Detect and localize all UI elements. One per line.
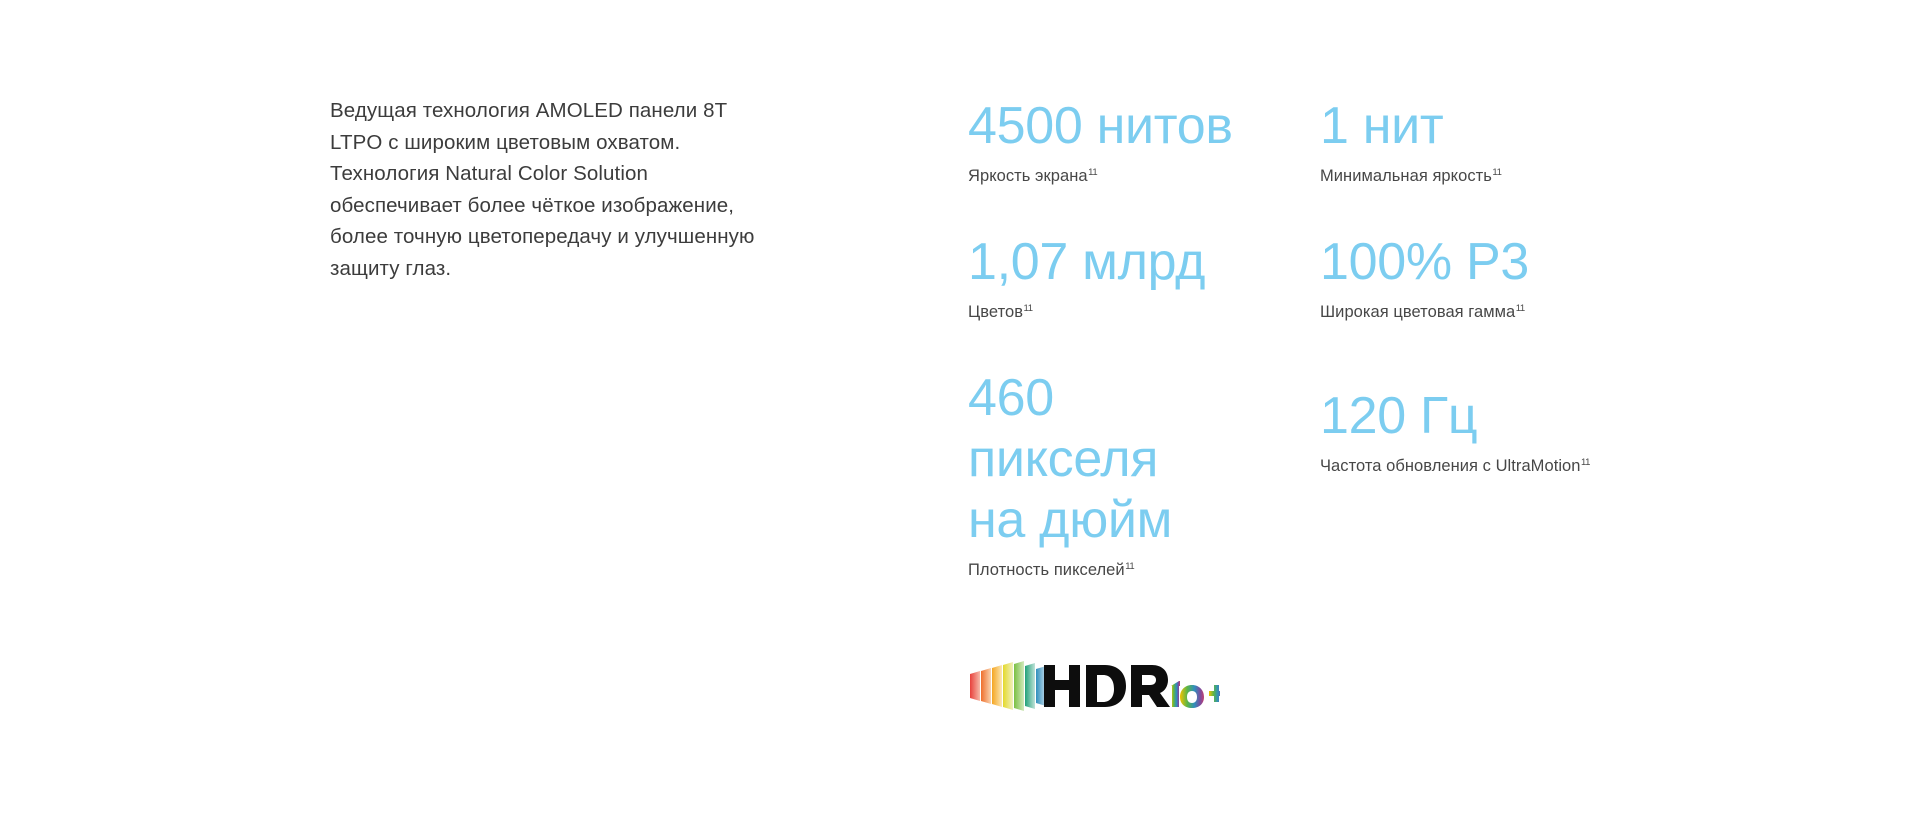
description-paragraph: Ведущая технология AMOLED панели 8T LTPO… [330, 95, 820, 284]
stat-color-gamut: 100% P3 Широкая цветовая гамма11 [1320, 232, 1668, 323]
hdr10-plus-logo [968, 660, 1220, 712]
stat-label-text: Плотность пикселей [968, 561, 1125, 579]
stat-label-text: Цветов [968, 303, 1023, 321]
description-block: Ведущая технология AMOLED панели 8T LTPO… [330, 95, 820, 284]
stat-label: Широкая цветовая гамма11 [1320, 293, 1668, 323]
stat-refresh-rate: 120 Гц Частота обновления с UltraMotion1… [1320, 386, 1668, 477]
stat-minimum-brightness: 1 нит Минимальная яркость11 [1320, 96, 1668, 187]
stat-colors: 1,07 млрд Цветов11 [968, 232, 1298, 323]
stat-pixel-density: 460 пикселя на дюйм Плотность пикселей11 [968, 368, 1298, 581]
hdr-chevron-stack [970, 661, 1046, 711]
hdr-ten-plus [1171, 681, 1220, 708]
stat-label: Яркость экрана11 [968, 157, 1298, 187]
display-specs-section: Ведущая технология AMOLED панели 8T LTPO… [0, 0, 1920, 815]
stat-value: 1 нит [1320, 96, 1668, 157]
stat-value: 4500 нитов [968, 96, 1298, 157]
stat-label: Частота обновления с UltraMotion11 [1320, 447, 1668, 477]
hdr-wordmark [1044, 665, 1170, 707]
footnote-marker: 11 [1023, 303, 1033, 314]
footnote-marker: 11 [1088, 167, 1098, 178]
stat-value: 460 пикселя на дюйм [968, 368, 1298, 551]
stat-label: Плотность пикселей11 [968, 551, 1298, 581]
footnote-marker: 11 [1581, 457, 1591, 468]
footnote-marker: 11 [1515, 303, 1525, 314]
stat-label-text: Яркость экрана [968, 167, 1088, 185]
stat-label: Цветов11 [968, 293, 1298, 323]
footnote-marker: 11 [1125, 561, 1135, 572]
stat-label-text: Широкая цветовая гамма [1320, 303, 1515, 321]
stat-label-text: Минимальная яркость [1320, 167, 1492, 185]
stat-label-text: Частота обновления с UltraMotion [1320, 457, 1581, 475]
stat-value: 1,07 млрд [968, 232, 1298, 293]
stat-value: 100% P3 [1320, 232, 1668, 293]
stat-label: Минимальная яркость11 [1320, 157, 1668, 187]
stat-value: 120 Гц [1320, 386, 1668, 447]
footnote-marker: 11 [1492, 167, 1502, 178]
hdr10-plus-icon [968, 660, 1220, 712]
stat-screen-brightness: 4500 нитов Яркость экрана11 [968, 96, 1298, 187]
